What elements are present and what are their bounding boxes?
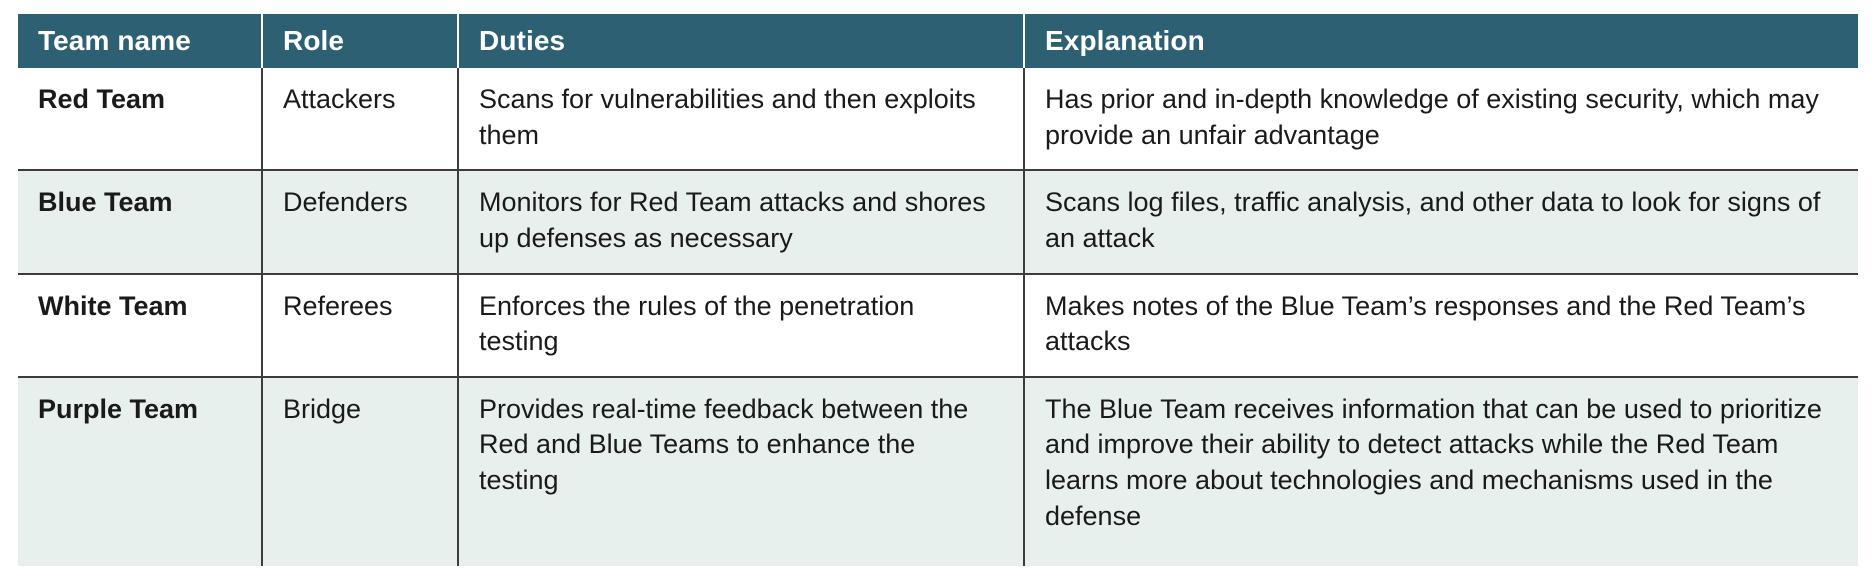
column-header-role: Role — [262, 14, 458, 68]
cell-role: Attackers — [262, 68, 458, 170]
cell-explanation: Has prior and in-depth knowledge of exis… — [1024, 68, 1858, 170]
teams-table-container: Team name Role Duties Explanation Red Te… — [18, 14, 1858, 566]
column-header-explanation: Explanation — [1024, 14, 1858, 68]
table-row: Red Team Attackers Scans for vulnerabili… — [18, 68, 1858, 170]
cell-role: Defenders — [262, 170, 458, 273]
security-teams-table: Team name Role Duties Explanation Red Te… — [18, 14, 1858, 566]
table-row: White Team Referees Enforces the rules o… — [18, 274, 1858, 377]
cell-team-name: Red Team — [18, 68, 262, 170]
cell-duties: Provides real-time feedback between the … — [458, 377, 1024, 566]
cell-explanation: Scans log files, traffic analysis, and o… — [1024, 170, 1858, 273]
table-header: Team name Role Duties Explanation — [18, 14, 1858, 68]
cell-explanation: The Blue Team receives information that … — [1024, 377, 1858, 566]
column-header-duties: Duties — [458, 14, 1024, 68]
table-row: Purple Team Bridge Provides real-time fe… — [18, 377, 1858, 566]
cell-team-name: Blue Team — [18, 170, 262, 273]
cell-duties: Scans for vulnerabilities and then explo… — [458, 68, 1024, 170]
cell-explanation: Makes notes of the Blue Team’s responses… — [1024, 274, 1858, 377]
cell-duties: Monitors for Red Team attacks and shores… — [458, 170, 1024, 273]
table-body: Red Team Attackers Scans for vulnerabili… — [18, 68, 1858, 566]
cell-role: Bridge — [262, 377, 458, 566]
cell-team-name: Purple Team — [18, 377, 262, 566]
cell-team-name: White Team — [18, 274, 262, 377]
table-row: Blue Team Defenders Monitors for Red Tea… — [18, 170, 1858, 273]
cell-duties: Enforces the rules of the penetration te… — [458, 274, 1024, 377]
table-header-row: Team name Role Duties Explanation — [18, 14, 1858, 68]
cell-role: Referees — [262, 274, 458, 377]
column-header-team-name: Team name — [18, 14, 262, 68]
